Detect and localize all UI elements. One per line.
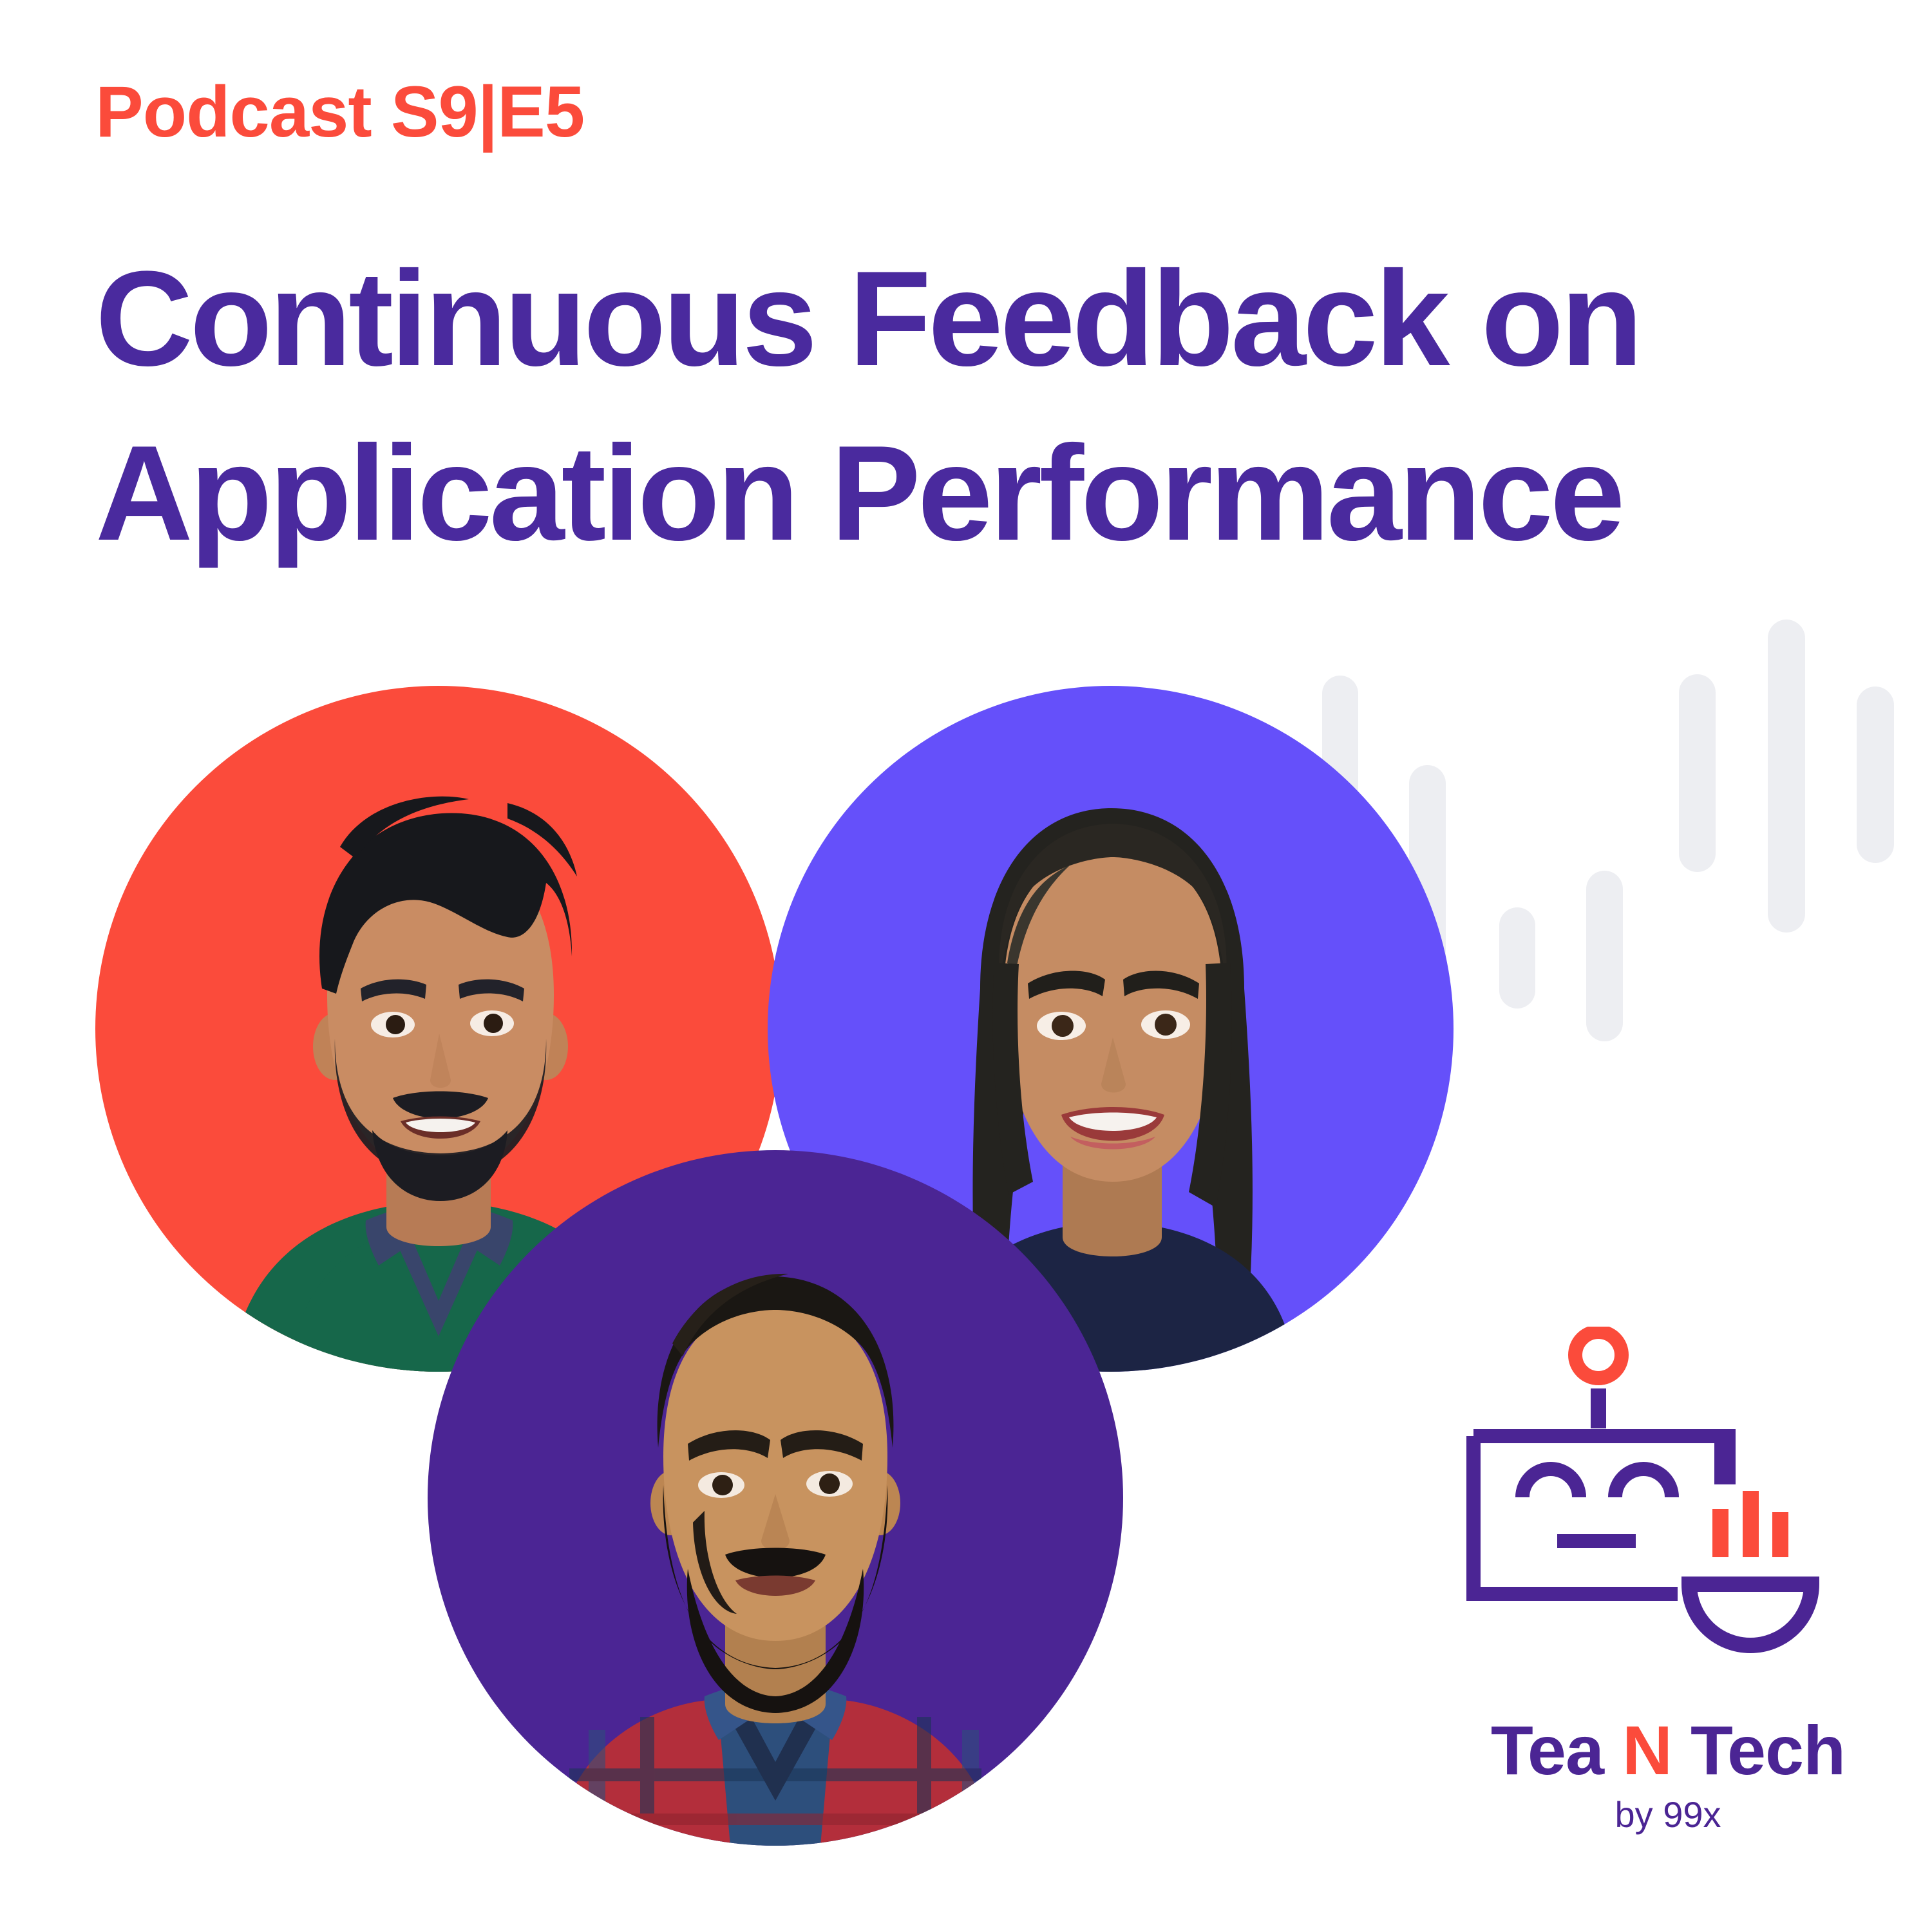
podcast-cover: Podcast S9|E5 Continuous Feedback on App… (0, 0, 1932, 1932)
title-line-1: Continuous Feedback on (95, 232, 1873, 406)
episode-label: Podcast S9|E5 (95, 76, 584, 148)
steam-bar-right (1772, 1512, 1788, 1557)
page-title: Continuous Feedback on Application Perfo… (95, 232, 1873, 581)
avatar-guest-3 (428, 1150, 1123, 1846)
wave-bar (1857, 687, 1894, 863)
wave-bar (1499, 907, 1535, 1009)
robot-eye-right-arc (1615, 1469, 1672, 1497)
steam-bar-center (1743, 1491, 1759, 1557)
steam-bar-left (1712, 1509, 1728, 1557)
robot-mouth-bar (1557, 1534, 1636, 1548)
title-line-2: Application Performance (95, 406, 1873, 581)
robot-head-rectangle (1473, 1436, 1728, 1594)
wave-bar (1679, 674, 1716, 872)
logo-wordmark-prefix: Tea (1491, 1711, 1622, 1789)
teacup-bowl (1689, 1584, 1812, 1645)
wave-bar (1768, 620, 1805, 933)
logo-wordmark: Tea N Tech (1455, 1713, 1880, 1788)
logo-wordmark-suffix: Tech (1672, 1711, 1845, 1789)
robot-antenna-ring (1575, 1332, 1622, 1378)
tea-n-tech-logo: Tea N Tech by 99x (1455, 1327, 1880, 1855)
robot-eye-left-arc (1522, 1469, 1579, 1497)
avatar-guest-3-image (428, 1150, 1123, 1846)
tea-n-tech-logo-mark (1455, 1327, 1880, 1713)
robot-antenna-stem (1591, 1388, 1606, 1428)
wave-bar (1586, 871, 1623, 1041)
logo-byline: by 99x (1455, 1797, 1880, 1833)
logo-wordmark-accent: N (1622, 1711, 1672, 1789)
